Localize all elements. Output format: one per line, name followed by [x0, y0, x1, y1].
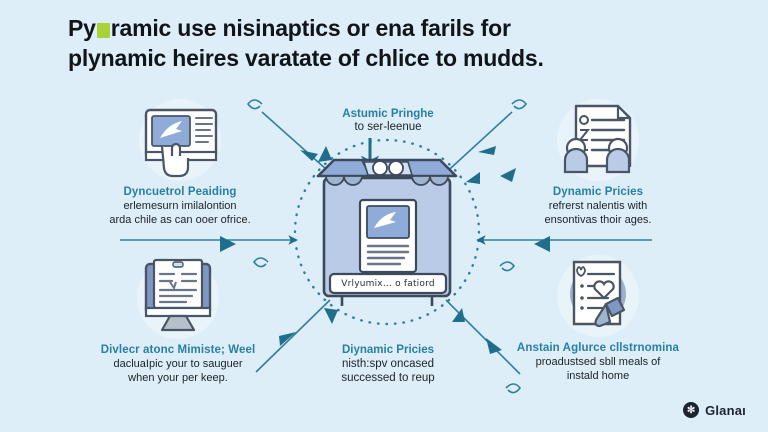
- hook-bottom-right: [506, 384, 520, 393]
- wire-arrow-up-right: [478, 146, 496, 155]
- node-top-right-body-1: refrerst nalentis with: [500, 199, 696, 213]
- node-bottom-right-body-2: instald home: [496, 369, 700, 383]
- center-caption-bottom: Diynamic Pricies nisth:spv oncased succe…: [300, 344, 476, 386]
- node-bottom-right-body-1: proadustsed sbll meals of: [496, 355, 700, 369]
- center-caption-top-body: to ser-leenue: [308, 121, 468, 133]
- node-top-right: Dynamic Pricies refrerst nalentis with e…: [500, 100, 696, 227]
- center-caption-top-heading: Astumic Pringhe: [308, 108, 468, 120]
- node-top-left: Dyncuetrol Peaiding erlemesurn imilalont…: [82, 100, 278, 227]
- orbit-arrow-bottomright: [452, 308, 465, 322]
- node-bottom-right-art: [546, 256, 650, 336]
- node-bottom-left-body-1: dacluaIpic your to sauguer: [78, 357, 278, 371]
- node-top-left-art: [128, 100, 232, 180]
- infographic-canvas: Pyramic use nisinaptics or ena farils fo…: [0, 0, 768, 432]
- center-caption-bottom-body-1: nisth:spv oncased: [300, 357, 476, 371]
- brand-name: Glanaı: [705, 403, 746, 418]
- orbit-arrow-bottomleft: [324, 308, 338, 324]
- storefront-sign-text: Vrlyumix… o fatiord: [330, 274, 446, 293]
- node-top-left-body-2: arda chile as can ooer ofrice.: [82, 213, 278, 227]
- node-top-right-heading: Dynamic Pricies: [500, 186, 696, 198]
- node-top-left-body-1: erlemesurn imilalontion: [82, 199, 278, 213]
- wire-arrow-down-left: [279, 332, 296, 346]
- hub-storefront: Vrlyumix… o fatiord: [312, 148, 462, 308]
- document-heart-pen-icon: [546, 256, 650, 336]
- node-bottom-right: Anstain Aglurce cllstrnomina proadustsed…: [496, 256, 700, 383]
- center-caption-bottom-heading: Diynamic Pricies: [300, 344, 476, 356]
- node-bottom-left-heading: Divlecr atonc Mimiste; Weel: [78, 344, 278, 356]
- monitor-cursor-icon: [128, 100, 232, 180]
- node-top-right-art: [546, 100, 650, 180]
- two-people-checklist-icon: [546, 100, 650, 180]
- brand-logo-icon: ✻: [683, 402, 699, 418]
- orbit-arrow-inner-right: [466, 172, 480, 184]
- orbit-arrow-right-outer: [534, 236, 550, 252]
- node-top-left-heading: Dyncuetrol Peaiding: [82, 186, 278, 198]
- node-bottom-left-art: [126, 258, 230, 338]
- center-caption-top: Astumic Pringhe to ser-leenue: [308, 108, 468, 133]
- brand-watermark: ✻ Glanaı: [683, 402, 746, 418]
- center-caption-bottom-body-2: successed to reup: [300, 371, 476, 385]
- desktop-document-icon: [126, 258, 230, 338]
- node-bottom-right-heading: Anstain Aglurce cllstrnomina: [496, 342, 700, 354]
- node-bottom-left: Divlecr atonc Mimiste; Weel dacluaIpic y…: [78, 258, 278, 385]
- node-top-right-body-2: ensontivas thoir ages.: [500, 213, 696, 227]
- orbit-arrow-left-outer: [220, 236, 236, 252]
- node-bottom-left-body-2: when your per keep.: [78, 371, 278, 385]
